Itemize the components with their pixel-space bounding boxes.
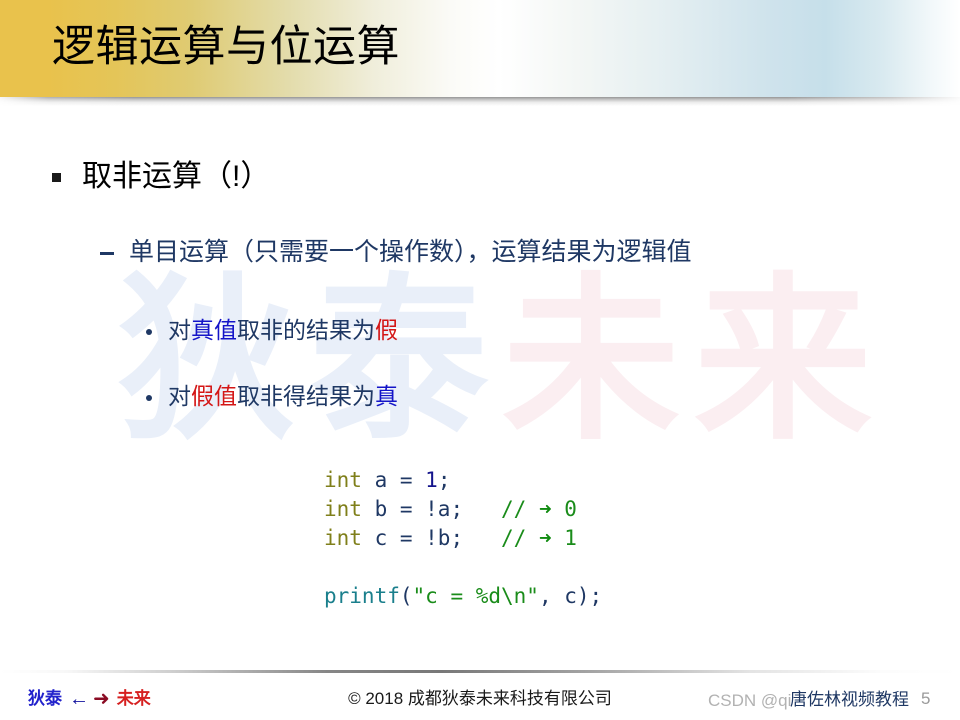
code-token: c = !b; [362, 526, 463, 550]
page-number: 5 [921, 688, 930, 710]
code-line [324, 553, 602, 582]
bullet-level2-label: 单目运算（只需要一个操作数），运算结果为逻辑值 [129, 234, 692, 270]
slide-canvas: 逻辑运算与位运算 狄泰未来 取非运算（!） 单目运算（只需要一个操作数），运算结… [0, 0, 960, 720]
code-token: int [324, 468, 362, 492]
footer-course-label: 唐佐林视频教程 [790, 689, 909, 711]
text-run: 真值 [191, 317, 237, 343]
bullet-level3-label: 对真值取非的结果为假 [168, 313, 398, 347]
code-token: , c); [539, 584, 602, 608]
square-bullet-icon [52, 173, 61, 182]
text-run: 假 [375, 317, 398, 343]
bullet-level2: 单目运算（只需要一个操作数），运算结果为逻辑值 [100, 234, 692, 270]
code-token: 0 [552, 497, 577, 521]
code-token: 1 [552, 526, 577, 550]
bullet-level3-item: 对假值取非得结果为真 [146, 379, 398, 413]
dot-bullet-icon [146, 329, 152, 335]
footer-divider [0, 670, 960, 673]
text-run: 对 [168, 317, 191, 343]
code-token [463, 526, 501, 550]
code-token: ( [400, 584, 413, 608]
code-token: a = [362, 468, 425, 492]
csdn-watermark: CSDN @qi [708, 690, 791, 712]
bullet-level1-label: 取非运算（!） [82, 157, 270, 197]
code-token: ➜ [539, 526, 552, 550]
code-token: ➜ [539, 497, 552, 521]
dash-bullet-icon [100, 252, 114, 255]
code-sample: int a = 1;int b = !a; // ➜ 0int c = !b; … [324, 466, 602, 611]
text-run: 取非的结果为 [237, 317, 375, 343]
code-token: // [501, 497, 539, 521]
text-run: 假值 [191, 383, 237, 409]
bullet-level3-label: 对假值取非得结果为真 [168, 379, 398, 413]
code-token: printf [324, 584, 400, 608]
code-token: 1 [425, 468, 438, 492]
code-line: int b = !a; // ➜ 0 [324, 495, 602, 524]
code-token: "c = %d\n" [413, 584, 539, 608]
dot-bullet-icon [146, 395, 152, 401]
code-token: b = !a; [362, 497, 463, 521]
code-token: int [324, 497, 362, 521]
code-token [463, 497, 501, 521]
code-token: ; [438, 468, 451, 492]
bullet-level3-item: 对真值取非的结果为假 [146, 313, 398, 347]
bullet-level1: 取非运算（!） [52, 157, 270, 197]
slide-content: 取非运算（!） 单目运算（只需要一个操作数），运算结果为逻辑值 对真值取非的结果… [0, 0, 960, 720]
code-line: printf("c = %d\n", c); [324, 582, 602, 611]
code-line: int c = !b; // ➜ 1 [324, 524, 602, 553]
text-run: 对 [168, 383, 191, 409]
code-token: int [324, 526, 362, 550]
text-run: 真 [375, 383, 398, 409]
code-token: // [501, 526, 539, 550]
text-run: 取非得结果为 [237, 383, 375, 409]
code-line: int a = 1; [324, 466, 602, 495]
